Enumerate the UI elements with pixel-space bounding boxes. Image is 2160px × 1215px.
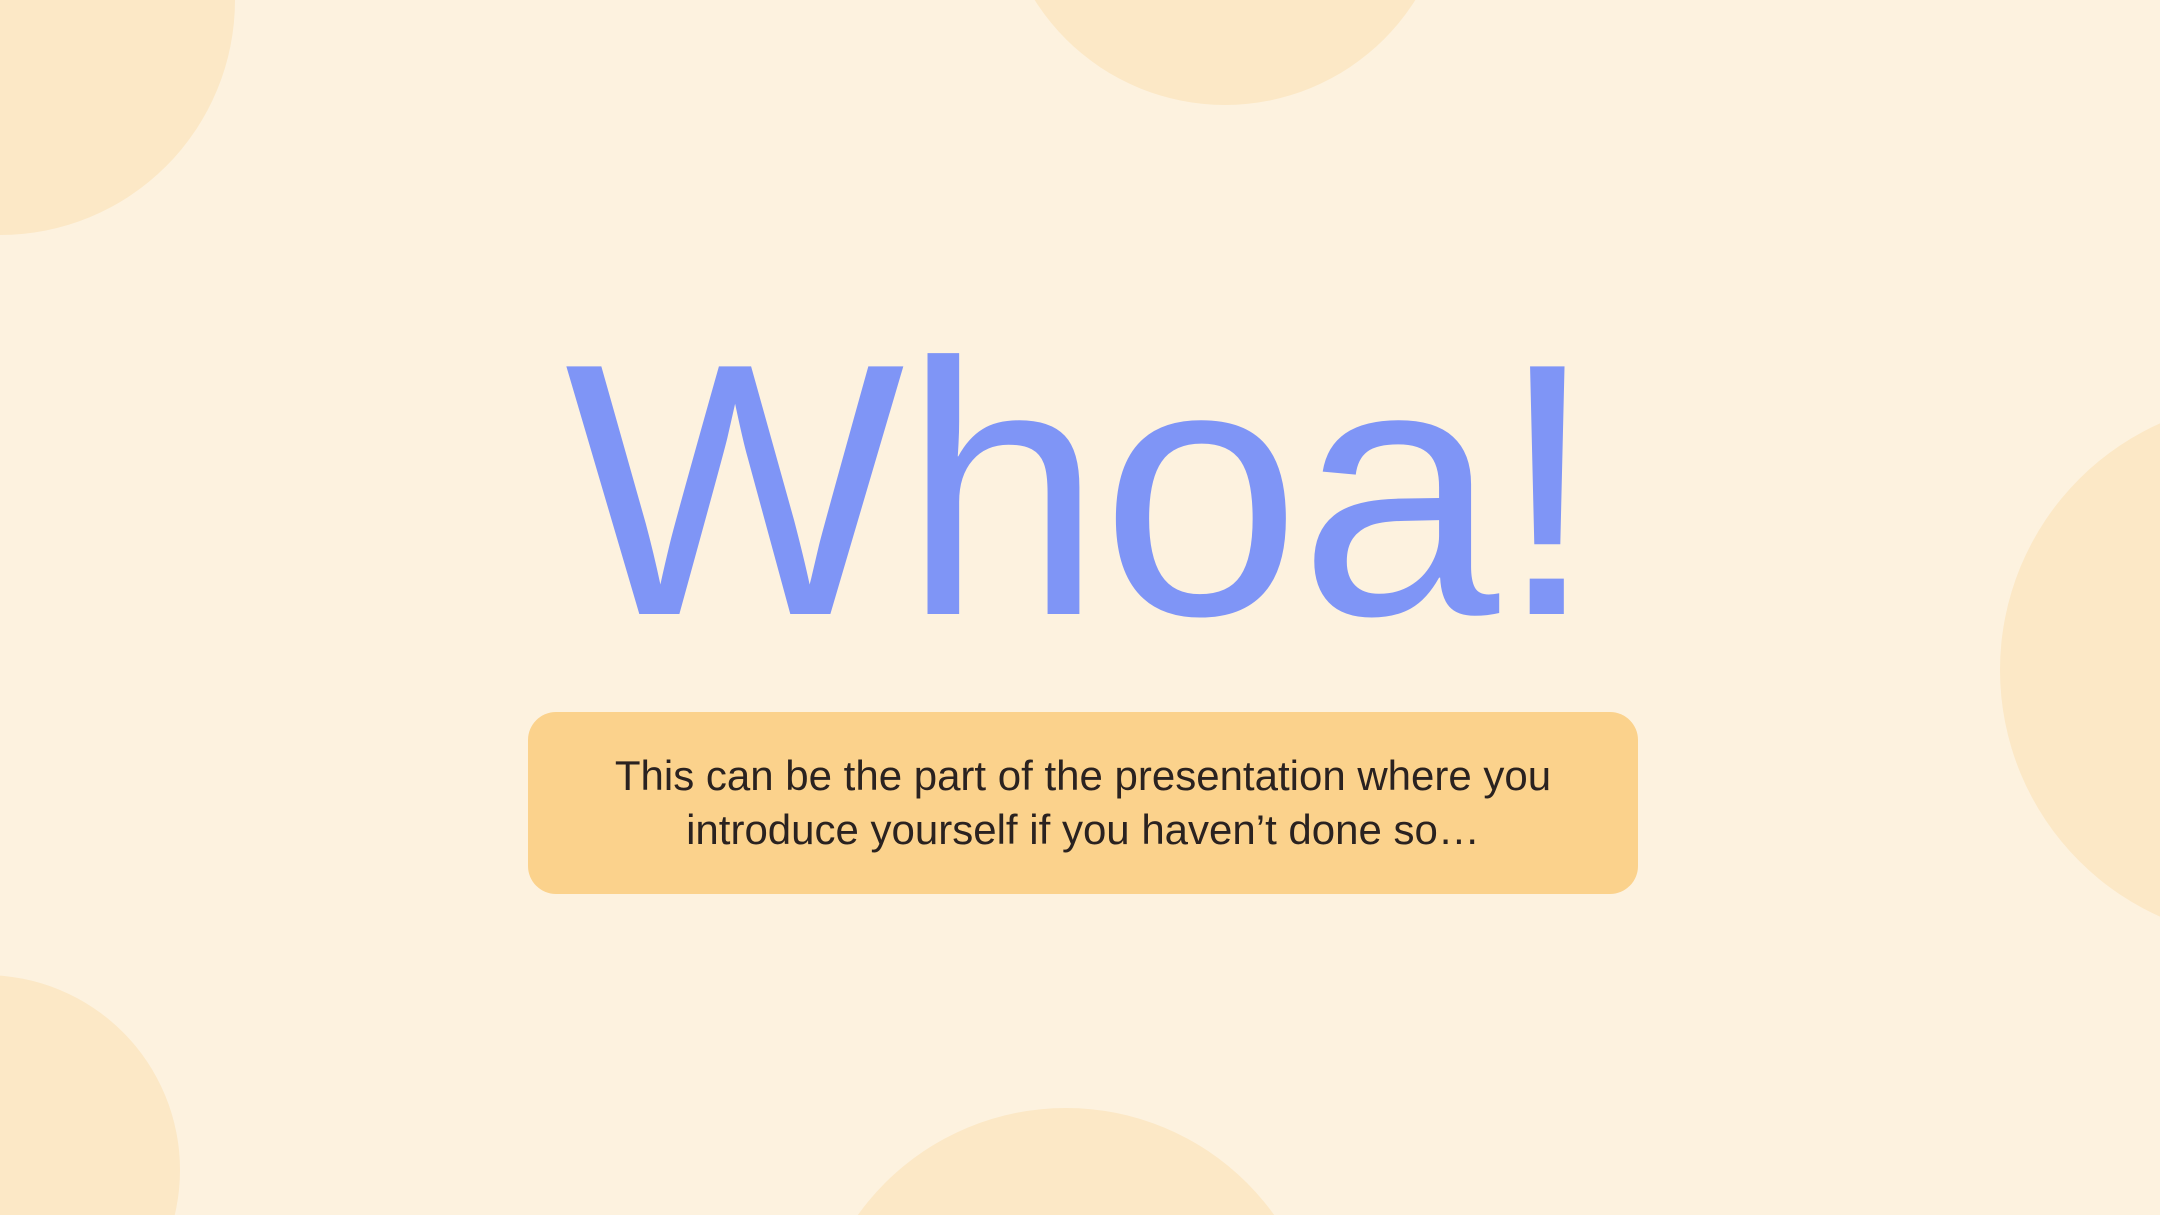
slide-subtitle-text: This can be the part of the presentation…: [528, 749, 1638, 857]
presentation-slide: Whoa! This can be the part of the presen…: [0, 0, 2160, 1215]
slide-content: Whoa! This can be the part of the presen…: [0, 0, 2160, 1215]
slide-subtitle-box: This can be the part of the presentation…: [528, 712, 1638, 894]
slide-title: Whoa!: [0, 310, 2160, 670]
